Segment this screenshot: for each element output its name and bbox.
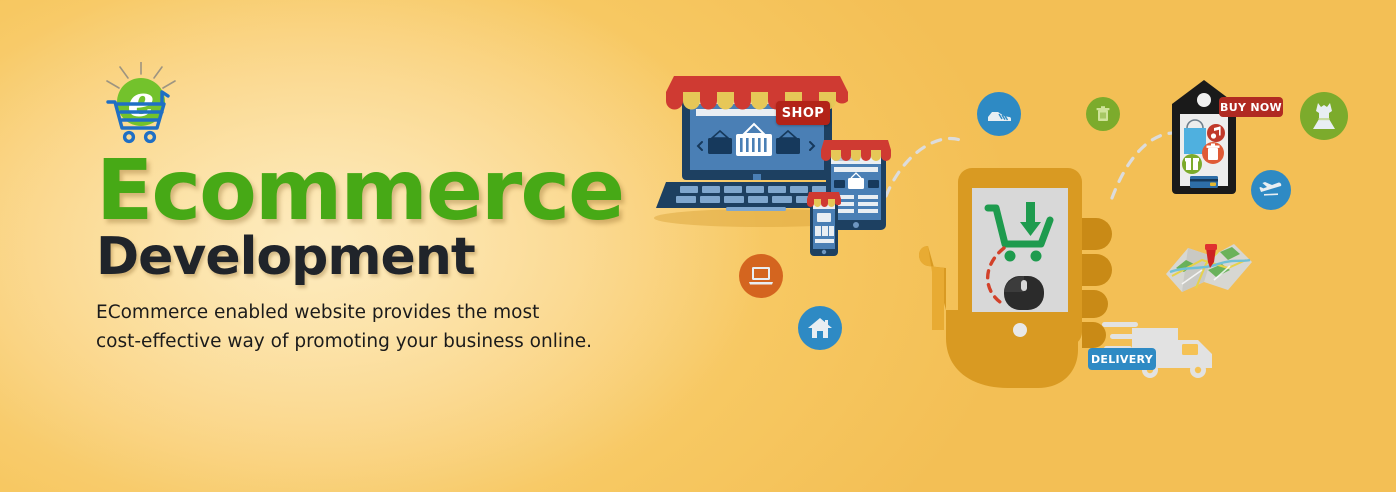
shop-phone bbox=[806, 182, 842, 258]
page-title: Ecommerce bbox=[96, 152, 656, 229]
house-icon[interactable] bbox=[798, 306, 842, 350]
hand-holding-tablet bbox=[888, 160, 1118, 400]
tagline-line-2: cost-effective way of promoting your bus… bbox=[96, 331, 592, 352]
ecommerce-cart-bulb-logo: e bbox=[98, 62, 184, 146]
trash-icon[interactable] bbox=[1086, 97, 1120, 131]
delivery-truck-icon bbox=[1102, 312, 1224, 382]
delivery-badge[interactable]: DELIVERY bbox=[1088, 348, 1156, 370]
trash-bin-icon bbox=[1202, 142, 1224, 164]
shop-badge[interactable]: SHOP bbox=[776, 101, 830, 125]
shoe-icon[interactable] bbox=[977, 92, 1021, 136]
music-note-icon bbox=[1207, 124, 1225, 142]
folded-map-with-pin-icon bbox=[1162, 236, 1256, 298]
tagline: ECommerce enabled website provides the m… bbox=[96, 299, 641, 356]
gift-box-icon bbox=[1182, 154, 1202, 174]
dress-icon[interactable] bbox=[1300, 92, 1348, 140]
tagline-line-1: ECommerce enabled website provides the m… bbox=[96, 302, 539, 323]
price-tag-card bbox=[1168, 78, 1240, 196]
headline-block: e Ecommerce Development ECommerce enable… bbox=[96, 62, 656, 357]
buy-now-badge[interactable]: BUY NOW bbox=[1219, 97, 1283, 117]
airplane-icon[interactable] bbox=[1251, 170, 1291, 210]
ecommerce-banner: e Ecommerce Development ECommerce enable… bbox=[0, 0, 1396, 492]
credit-card-icon bbox=[1190, 176, 1218, 188]
computer-mouse-icon bbox=[1004, 276, 1044, 310]
laptop-icon[interactable] bbox=[739, 254, 783, 298]
page-subtitle: Development bbox=[96, 231, 656, 283]
